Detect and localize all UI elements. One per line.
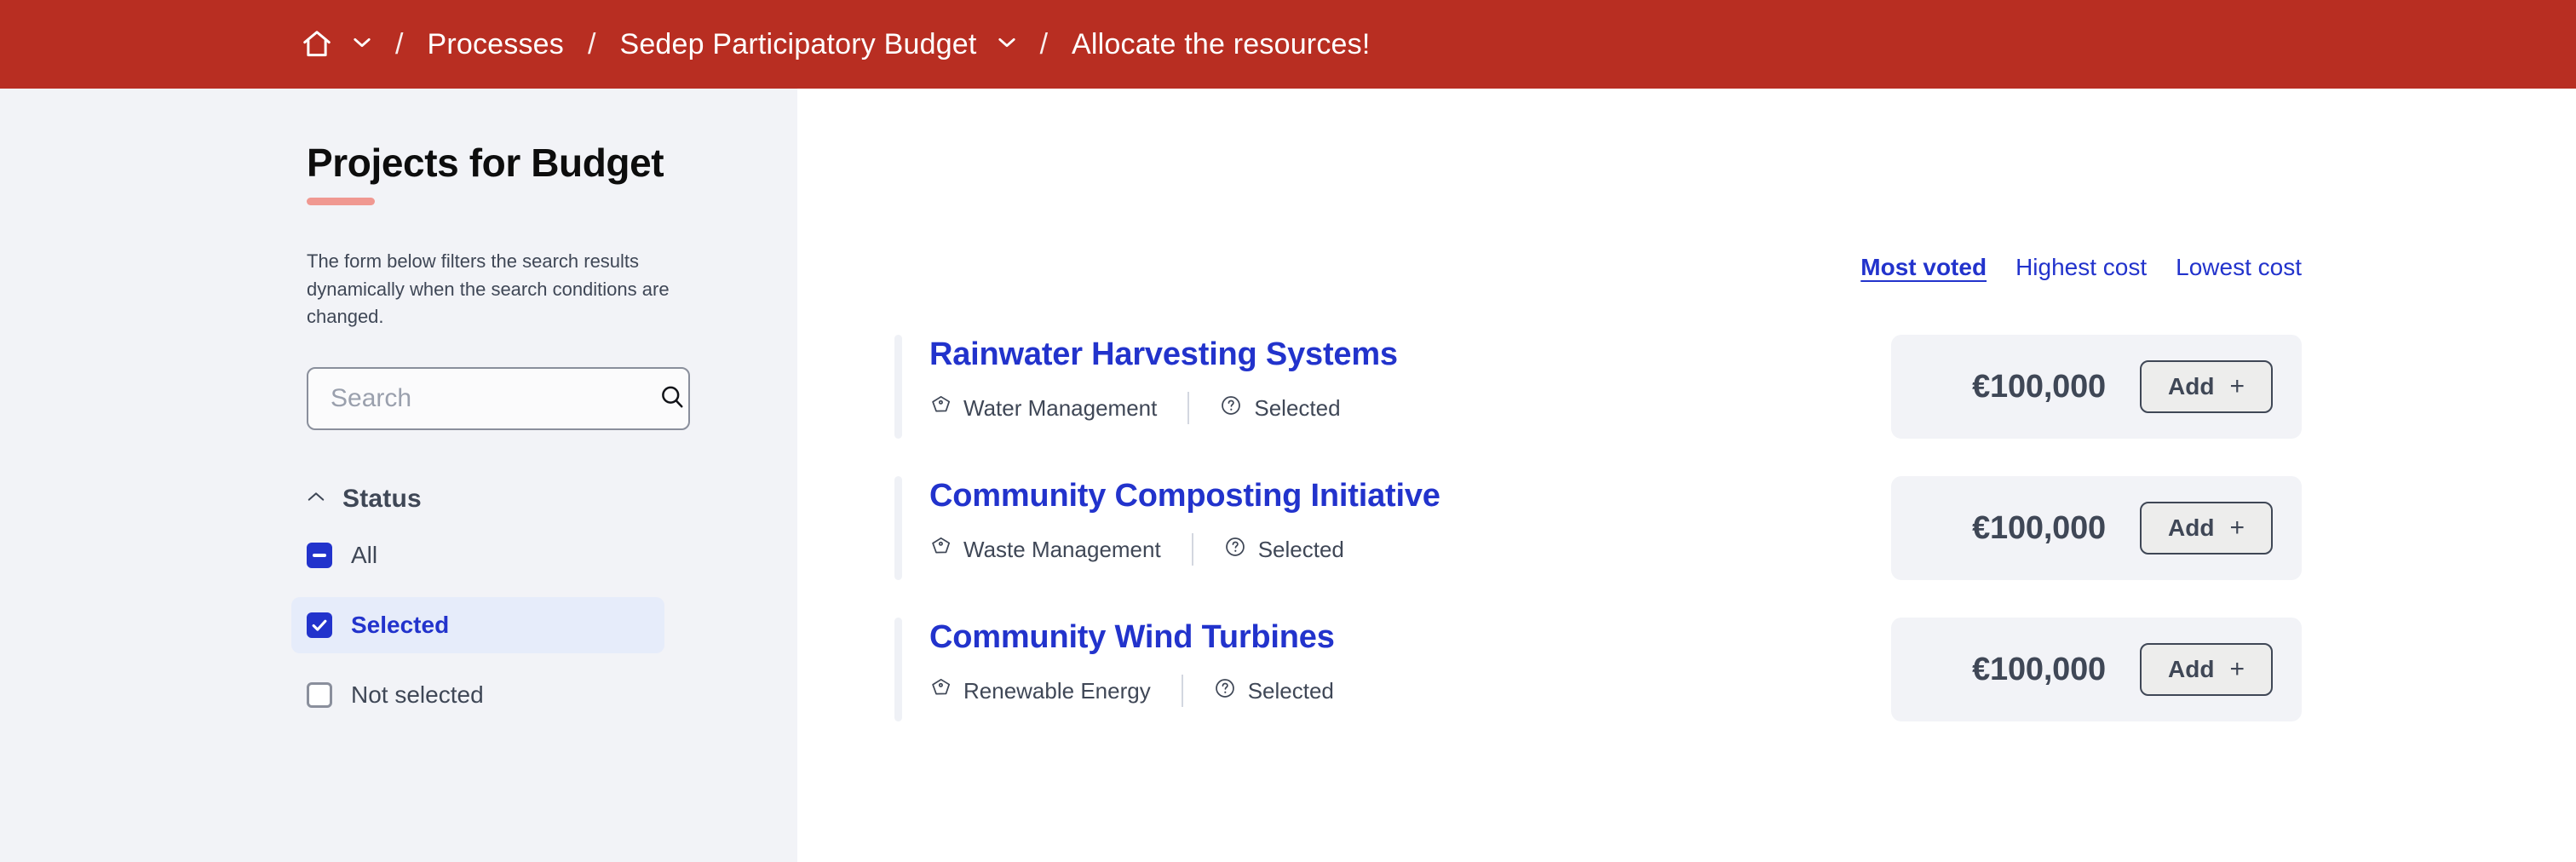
filter-option-selected[interactable]: Selected [291,597,664,653]
sort-link-lowest-cost[interactable]: Lowest cost [2176,254,2302,281]
search-input[interactable] [331,384,659,413]
add-project-button-label: Add [2168,656,2214,683]
home-icon[interactable] [300,28,334,60]
project-meta: Renewable Energy [929,675,1335,707]
projects-main: Most voted Highest cost Lowest cost Rain… [797,89,2576,862]
project-category: Waste Management [929,536,1161,564]
search-box[interactable] [307,367,690,430]
title-underline-rule [307,198,375,205]
project-category: Renewable Energy [929,677,1151,705]
project-price-card: €100,000 Add + [1891,335,2302,439]
process-chevron-down-icon[interactable] [998,37,1016,53]
page-body: Projects for Budget The form below filte… [0,89,2576,862]
status-badge: Selected [1214,677,1334,705]
search-submit-button[interactable] [659,384,685,412]
project-price: €100,000 [1972,510,2106,547]
project-info: Community Composting Initiative Waste Ma… [894,476,1891,580]
question-circle-icon [1214,677,1236,705]
breadcrumb-item-allocate-the-resources[interactable]: Allocate the resources! [1072,28,1370,61]
add-project-button[interactable]: Add + [2140,502,2273,555]
project-price-card: €100,000 Add + [1891,476,2302,580]
status-badge: Selected [1220,394,1340,422]
add-project-button-label: Add [2168,514,2214,542]
status-badge: Selected [1224,536,1344,564]
project-info: Community Wind Turbines Renewable Energy [894,618,1891,721]
sort-options-bar: Most voted Highest cost Lowest cost [1860,254,2302,281]
filter-option-not-selected[interactable]: Not selected [291,667,664,723]
plus-icon: + [2229,515,2245,541]
question-circle-icon [1220,394,1242,422]
filters-sidebar: Projects for Budget The form below filte… [0,89,797,862]
page-title: Projects for Budget [307,140,695,186]
project-price: €100,000 [1972,652,2106,688]
projects-list: Rainwater Harvesting Systems Water Manag… [894,335,2302,759]
row-accent-bar [894,476,902,580]
add-project-button[interactable]: Add + [2140,360,2273,413]
project-category-label: Renewable Energy [963,678,1151,704]
breadcrumb-item-sedep-participatory-budget[interactable]: Sedep Participatory Budget [619,28,976,61]
tag-icon [929,536,952,564]
project-category-label: Waste Management [963,537,1161,563]
question-circle-icon [1224,536,1246,564]
status-badge-label: Selected [1254,395,1340,422]
project-meta: Water Management [929,392,1398,424]
breadcrumb-separator-1: / [395,28,403,61]
meta-divider [1187,392,1189,424]
breadcrumb-item-processes[interactable]: Processes [427,28,564,61]
breadcrumb-separator-2: / [588,28,595,61]
breadcrumb-item-process-group[interactable]: Sedep Participatory Budget [619,28,1015,61]
project-title-link[interactable]: Community Wind Turbines [929,619,1335,656]
filter-group-status-header[interactable]: Status [307,485,695,514]
row-accent-bar [894,618,902,721]
sort-link-most-voted[interactable]: Most voted [1860,254,1987,281]
project-info: Rainwater Harvesting Systems Water Manag… [894,335,1891,439]
sort-link-highest-cost[interactable]: Highest cost [2015,254,2147,281]
project-meta: Waste Management [929,533,1440,566]
project-title-link[interactable]: Rainwater Harvesting Systems [929,336,1398,373]
filter-option-all-label: All [351,542,377,569]
project-category: Water Management [929,394,1157,422]
filter-option-not-selected-label: Not selected [351,681,484,709]
status-badge-label: Selected [1258,537,1344,563]
tag-icon [929,677,952,705]
project-price: €100,000 [1972,369,2106,405]
search-icon [659,384,685,412]
row-accent-bar [894,335,902,439]
breadcrumb-home[interactable] [300,28,371,60]
breadcrumb-separator-3: / [1040,28,1048,61]
tag-icon [929,394,952,422]
filter-option-selected-label: Selected [351,612,449,639]
checkbox-unchecked-icon[interactable] [307,682,332,708]
table-row: Community Wind Turbines Renewable Energy [894,618,2302,759]
chevron-up-icon[interactable] [307,491,325,507]
add-project-button-label: Add [2168,373,2214,400]
checkbox-checked-icon[interactable] [307,612,332,638]
project-price-card: €100,000 Add + [1891,618,2302,721]
filter-group-status: Status All Selected [307,485,695,723]
table-row: Community Composting Initiative Waste Ma… [894,476,2302,618]
filter-group-status-label: Status [342,485,422,514]
filter-help-text: The form below filters the search result… [307,248,681,331]
filter-option-all[interactable]: All [291,527,664,583]
add-project-button[interactable]: Add + [2140,643,2273,696]
checkbox-indeterminate-icon[interactable] [307,543,332,568]
breadcrumb-bar: / Processes / Sedep Participatory Budget… [0,0,2576,89]
meta-divider [1182,675,1183,707]
plus-icon: + [2229,374,2245,399]
project-title-link[interactable]: Community Composting Initiative [929,478,1440,514]
status-badge-label: Selected [1248,678,1334,704]
plus-icon: + [2229,657,2245,682]
meta-divider [1192,533,1193,566]
home-chevron-down-icon[interactable] [353,37,371,53]
project-category-label: Water Management [963,395,1157,422]
table-row: Rainwater Harvesting Systems Water Manag… [894,335,2302,476]
